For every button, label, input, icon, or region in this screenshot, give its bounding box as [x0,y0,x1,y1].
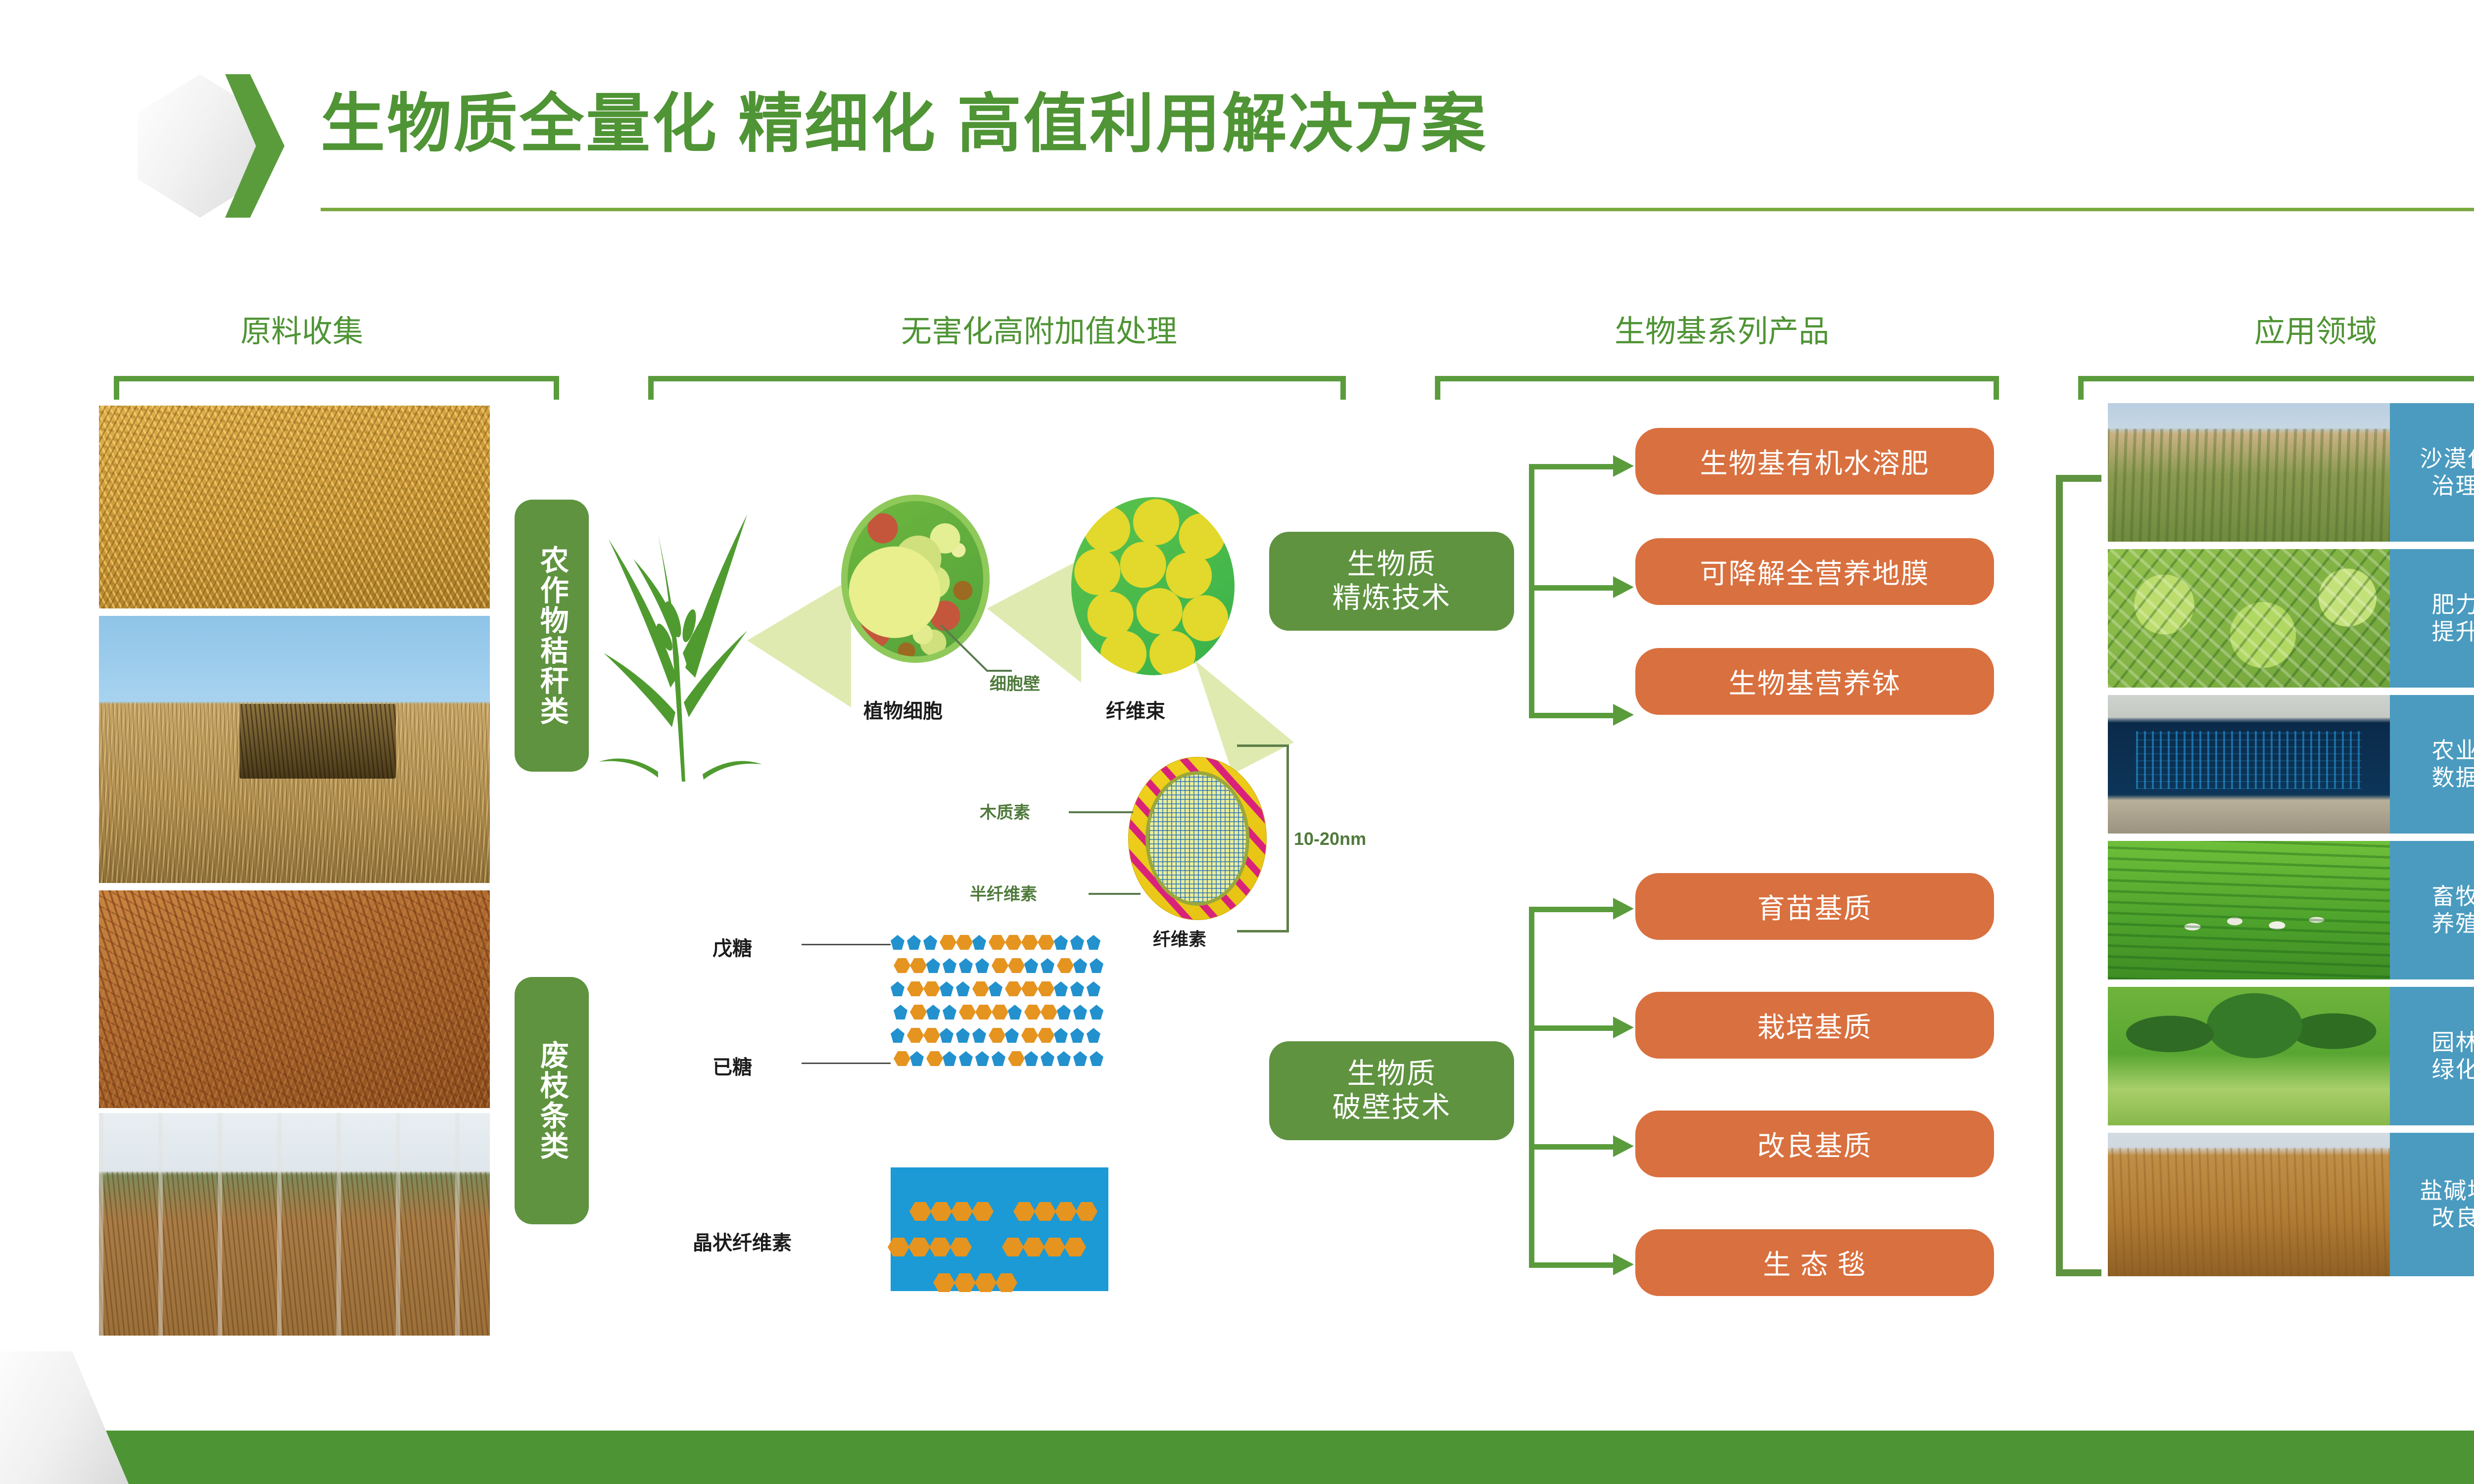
product-box-seedling-substrate[interactable]: 育苗基质 [1635,873,1994,940]
pentose-unit-icon [972,1028,986,1043]
hexose-unit-icon [910,958,927,973]
pentose-unit-icon [943,958,956,973]
pentose-unit-icon [992,1051,1005,1066]
glucose-unit-icon [1055,1202,1077,1221]
tech-box-cellwall[interactable]: 生物质 破壁技术 [1269,1041,1514,1140]
pentose-unit-icon [989,981,1002,996]
label-cell-wall: 细胞壁 [990,670,1040,695]
hexose-unit-icon [910,1005,927,1020]
label-lignin: 木质素 [980,799,1030,823]
dimension-tick-top [1237,744,1289,747]
hexose-unit-icon [926,1051,943,1066]
dimension-tick-bottom [1237,930,1289,932]
app-desert-line1: 沙漠化 [2420,445,2474,472]
pentose-unit-icon [959,958,973,973]
application-tag-fertility: 肥力 提升 [2390,549,2474,688]
hexose-unit-icon [907,981,924,996]
glucose-unit-icon [1076,1202,1097,1221]
fiber-bundle-diagram [1071,497,1235,675]
glucose-unit-icon [1034,1202,1056,1221]
tech-refining-line1: 生物质 [1347,548,1436,581]
hexose-unit-icon [1057,958,1074,973]
pentose-unit-icon [1073,958,1087,973]
pentose-unit-icon [1073,1005,1087,1020]
cellulose-core [1149,775,1246,902]
label-cellulose: 纤维素 [1153,925,1206,951]
cabbage-field-photo [2108,549,2390,688]
grazing-sheep-photo [2108,841,2390,979]
pentose-unit-icon [891,935,904,950]
hexose-unit-icon [923,1028,940,1043]
plant-grass-icon [599,505,762,782]
pentose-unit-icon [1054,981,1068,996]
hexose-unit-icon [956,935,973,950]
pentose-unit-icon [1024,958,1038,973]
pentose-unit-icon [907,935,921,950]
waste-branches-photo [99,890,490,1108]
glucose-unit-icon [908,1238,930,1256]
hexose-unit-icon [894,958,910,973]
app-desert-line2: 治理 [2432,472,2474,500]
connector-cellwall [1529,903,1638,1274]
hexose-unit-icon [907,1028,924,1043]
pentose-unit-icon [940,981,953,996]
hexose-unit-icon [1021,981,1038,996]
pentose-unit-icon [940,1028,953,1043]
desert-control-photo [2108,403,2390,542]
hexose-unit-icon [1021,935,1038,950]
app-agridata-line1: 农业 [2432,737,2474,764]
application-tag-saline: 盐碱地 改良 [2390,1133,2474,1276]
crystalline-cellulose-diagram [891,1167,1108,1291]
page-header: 生物质全量化 精细化 高值利用解决方案 [0,0,2474,257]
glucose-unit-icon [972,1202,994,1221]
hexose-unit-icon [1005,935,1022,950]
pentose-unit-icon [1008,1005,1022,1020]
pentose-unit-icon [1005,1028,1019,1043]
application-row-livestock[interactable]: 畜牧 养殖 [2108,841,2474,979]
pentose-unit-icon [894,1005,907,1020]
product-box-improvement-substrate[interactable]: 改良基质 [1635,1111,1994,1177]
label-pentose: 戊糖 [713,932,752,961]
app-saline-line2: 改良 [2432,1205,2474,1232]
section-bracket-apps [2078,376,2474,400]
hexose-unit-icon [989,935,1005,950]
pentose-unit-icon [1054,935,1068,950]
pentose-unit-icon [943,1051,956,1066]
tech-cellwall-line1: 生物质 [1347,1057,1436,1091]
tech-box-refining[interactable]: 生物质 精炼技术 [1269,532,1514,631]
hexose-unit-icon [1005,981,1022,996]
pentose-unit-icon [975,958,989,973]
application-row-saline[interactable]: 盐碱地 改良 [2108,1133,2474,1276]
pentose-unit-icon [1090,1005,1103,1020]
hexose-unit-icon [989,1028,1005,1043]
pentose-unit-icon [1041,958,1054,973]
pentose-unit-icon [956,981,970,996]
cellulose-cross-section [1128,757,1267,920]
hexose-leader-line [802,1063,891,1064]
app-fertility-line1: 肥力 [2432,591,2474,618]
hexose-unit-icon [1038,1028,1054,1043]
application-row-landscaping[interactable]: 园林 绿化 [2108,987,2474,1125]
pentose-unit-icon [891,1028,904,1043]
pentose-unit-icon [1054,1028,1068,1043]
process-illustration: 细胞壁 植物细胞 纤维束 木质素 半纤维素 纤维素 10-20nm 戊糖 已糖 … [594,366,1465,1345]
app-agridata-line2: 数据 [2432,764,2474,791]
pentose-unit-icon [1087,981,1100,996]
tech-refining-line2: 精炼技术 [1332,581,1451,615]
straw-bale-field-photo [99,616,490,883]
glucose-unit-icon [1013,1202,1035,1221]
raw-tag-waste-branches: 废枝条类 [515,977,589,1224]
hexose-unit-icon [894,1051,910,1066]
glucose-unit-icon [888,1238,909,1256]
app-livestock-line1: 畜牧 [2432,883,2474,910]
hexose-unit-icon [1008,958,1025,973]
label-crystalline-cellulose: 晶状纤维素 [693,1227,792,1255]
label-hemicellulose: 半纤维素 [970,881,1037,905]
lignin-leader-line [1069,811,1133,813]
application-row-agridata[interactable]: 农业 数据 [2108,695,2474,834]
app-fertility-line2: 提升 [2432,618,2474,646]
pentose-unit-icon [972,935,986,950]
pentose-unit-icon [1070,935,1084,950]
application-tag-landscaping: 园林 绿化 [2390,987,2474,1125]
hexose-unit-icon [940,935,956,950]
pentose-unit-icon [1041,1051,1054,1066]
glucose-unit-icon [996,1273,1017,1292]
pentose-unit-icon [1024,1051,1038,1066]
application-row-fertility[interactable]: 肥力 提升 [2108,549,2474,688]
glucose-unit-icon [929,1238,951,1256]
product-box-water-soluble-fertilizer[interactable]: 生物基有机水溶肥 [1635,428,1994,495]
dimension-vertical-line [1286,744,1289,932]
product-box-cultivation-substrate[interactable]: 栽培基质 [1635,992,1994,1059]
label-dimension: 10-20nm [1294,829,1366,849]
hexose-unit-icon [1041,1005,1057,1020]
hexose-unit-icon [1021,1028,1038,1043]
tech-cellwall-line2: 破壁技术 [1332,1091,1451,1124]
product-box-nutrient-pot[interactable]: 生物基营养钵 [1635,648,1994,715]
data-control-room-photo [2108,695,2390,834]
application-row-desertification[interactable]: 沙漠化 治理 [2108,403,2474,542]
app-saline-line1: 盐碱地 [2420,1177,2474,1205]
glucose-unit-icon [951,1202,973,1221]
product-box-biodegradable-mulch-film[interactable]: 可降解全营养地膜 [1635,538,1994,605]
glucose-unit-icon [1023,1238,1045,1256]
glucose-unit-icon [930,1202,952,1221]
hexose-unit-icon [923,981,940,996]
section-bracket-products [1435,376,1999,400]
saline-soil-photo [2108,1133,2390,1276]
pentose-unit-icon [956,1028,970,1043]
hexose-unit-icon [1038,935,1054,950]
hexose-unit-icon [975,1005,992,1020]
pentose-unit-icon [943,1005,956,1020]
glucose-unit-icon [933,1273,955,1292]
section-title-apps: 应用领域 [2068,317,2474,347]
hexose-unit-icon [959,1005,976,1020]
label-fiber-bundle: 纤维束 [1106,695,1165,724]
product-box-ecological-blanket[interactable]: 生 态 毯 [1635,1229,1994,1296]
section-title-process: 无害化高附加值处理 [618,317,1460,347]
glucose-unit-icon [1044,1238,1065,1256]
app-livestock-line2: 养殖 [2432,910,2474,937]
pentose-unit-icon [1073,1051,1087,1066]
hexose-unit-icon [1038,981,1054,996]
pruned-vineyard-photo [99,1113,490,1336]
pentose-unit-icon [1087,1028,1100,1043]
sugar-chain-diagram [891,935,1108,1078]
glucose-unit-icon [1064,1238,1086,1256]
glucose-unit-icon [950,1238,972,1256]
section-bracket-raw [114,376,559,400]
application-tag-agridata: 农业 数据 [2390,695,2474,834]
pentose-unit-icon [1070,981,1084,996]
hexose-unit-icon [1024,1005,1041,1020]
pentose-unit-icon [926,958,940,973]
label-plant-cell: 植物细胞 [863,695,943,724]
section-title-raw: 原料收集 [99,317,505,347]
pentose-unit-icon [891,981,904,996]
hexose-unit-icon [992,958,1008,973]
section-title-products: 生物基系列产品 [1425,317,2019,347]
hexose-unit-icon [972,981,989,996]
park-trees-photo [2108,987,2390,1125]
application-tag-livestock: 畜牧 养殖 [2390,841,2474,979]
pentose-unit-icon [1070,1028,1084,1043]
pentose-unit-icon [1057,1051,1071,1066]
corn-stover-photo [99,406,490,608]
glucose-unit-icon [909,1202,931,1221]
pentose-unit-icon [910,1051,924,1066]
application-tag-desertification: 沙漠化 治理 [2390,403,2474,542]
glucose-unit-icon [975,1273,997,1292]
pentose-unit-icon [926,1005,940,1020]
page-title: 生物质全量化 精细化 高值利用解决方案 [321,92,1487,156]
pentose-unit-icon [1087,935,1100,950]
pentose-unit-icon [975,1051,989,1066]
hexose-unit-icon [1008,1051,1025,1066]
app-landscape-line1: 园林 [2432,1029,2474,1056]
app-landscape-line2: 绿化 [2432,1056,2474,1083]
footer-corner-shape [0,1351,129,1484]
pentose-unit-icon [1090,1051,1103,1066]
pentose-leader-line [802,944,891,945]
zoom-cone-1 [747,579,851,707]
applications-bracket [2041,475,2095,1276]
pentose-unit-icon [923,935,937,950]
raw-tag-crop-straw: 农作物秸秆类 [515,500,589,772]
hexose-unit-icon [992,1005,1008,1020]
pentose-unit-icon [1057,1005,1071,1020]
title-divider [321,208,2474,211]
pentose-unit-icon [959,1051,973,1066]
connector-refining [1529,460,1638,722]
label-hexose: 已糖 [713,1051,752,1080]
pentose-unit-icon [1090,958,1103,973]
glucose-unit-icon [954,1273,976,1292]
hemicellulose-leader-line [1089,893,1141,895]
footer-bar [0,1431,2474,1484]
glucose-unit-icon [1002,1238,1024,1256]
zoom-cone-3 [1195,660,1294,774]
